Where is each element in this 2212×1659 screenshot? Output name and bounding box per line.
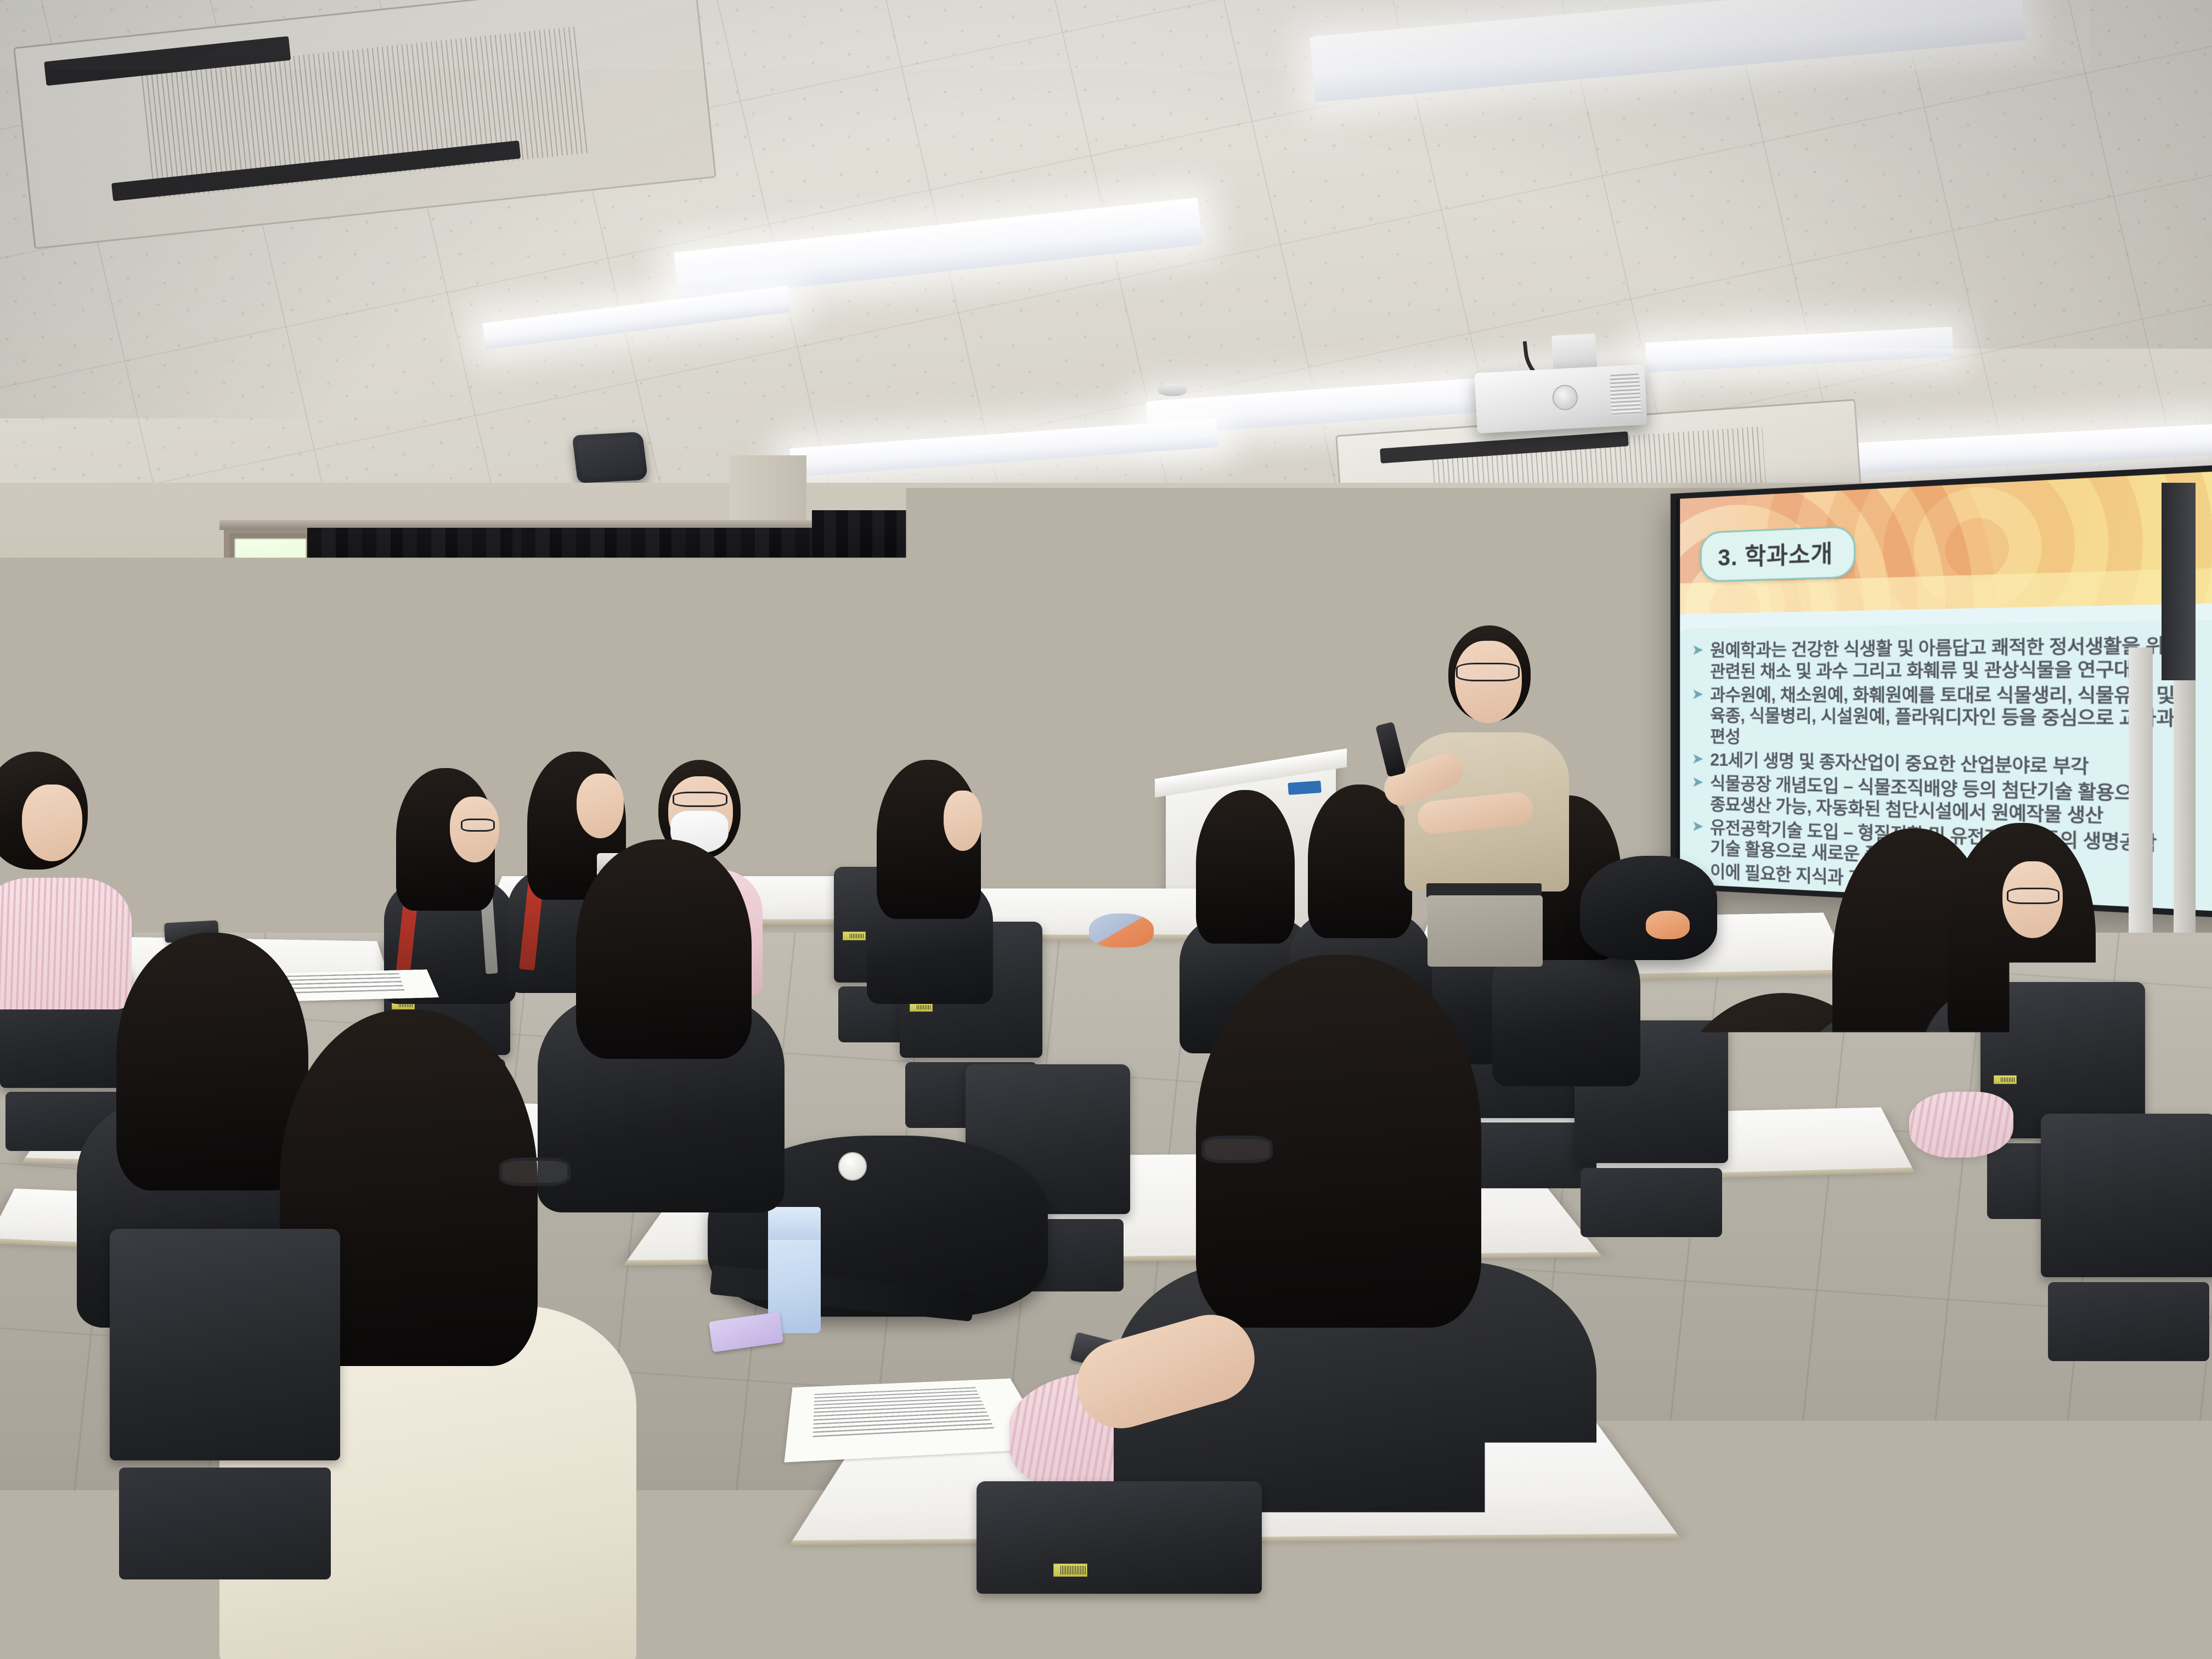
bullet-arrow-icon: ➤ bbox=[1691, 772, 1703, 792]
high-temperature-warning-label: 고온주의 bbox=[1097, 761, 1133, 785]
screen-mount-bracket bbox=[2162, 483, 2196, 680]
handwheel-hub bbox=[1117, 803, 1135, 820]
slide-title: 3. 학과소개 bbox=[1700, 526, 1855, 583]
student-glasses bbox=[499, 1158, 571, 1186]
chair-front-left[interactable] bbox=[110, 1229, 340, 1602]
handout-text-lines bbox=[812, 1387, 996, 1440]
tumbler-cap bbox=[768, 1207, 821, 1240]
student-hair bbox=[1196, 790, 1295, 944]
wall-speaker bbox=[572, 432, 648, 483]
chair-front-right[interactable] bbox=[1712, 1262, 1953, 1640]
chair-backrest bbox=[110, 1229, 340, 1460]
trash-bin[interactable] bbox=[1970, 1086, 2052, 1185]
chair-seat bbox=[119, 1468, 331, 1579]
student-face bbox=[577, 774, 624, 838]
autoclave-panel-text bbox=[1047, 692, 1125, 725]
chair-asset-tag bbox=[1053, 1564, 1087, 1577]
backpack-right-table[interactable] bbox=[1580, 856, 1717, 960]
student-glasses bbox=[2007, 888, 2059, 904]
presenter-face bbox=[1455, 641, 1522, 723]
chair-asset-tag bbox=[1729, 1409, 1761, 1421]
pin-badge-on-bag bbox=[838, 1152, 867, 1181]
classroom-photo: HS-5120G www.hanshin.co.kr 고온주의 3. 학과소 bbox=[0, 0, 2212, 1659]
bullet-arrow-icon: ➤ bbox=[1691, 816, 1703, 836]
screen-left-edge bbox=[1676, 499, 1680, 884]
chair-front-bottom[interactable] bbox=[977, 1481, 1262, 1659]
smoke-detector bbox=[1158, 384, 1187, 396]
presenter-glasses bbox=[1456, 663, 1520, 681]
autoclave-gauge-1 bbox=[1024, 690, 1042, 709]
chair-asset-tag bbox=[910, 1003, 933, 1012]
student-glasses bbox=[1201, 1136, 1273, 1163]
projector-vent bbox=[1610, 373, 1641, 415]
autoclave-handwheel[interactable] bbox=[1096, 781, 1156, 842]
autoclave-model-label: HS-5120G www.hanshin.co.kr bbox=[1047, 674, 1126, 689]
pen-cup bbox=[1145, 656, 1162, 670]
small-orange-plush-right[interactable] bbox=[1646, 911, 1690, 939]
chair-backrest bbox=[1712, 1262, 1953, 1497]
student-glasses bbox=[461, 819, 495, 832]
bullet-arrow-icon: ➤ bbox=[1691, 749, 1703, 768]
presenter bbox=[1393, 625, 1569, 933]
student-face bbox=[944, 791, 982, 851]
autoclave-door[interactable] bbox=[1042, 738, 1152, 848]
autoclave-safety-sticker bbox=[1065, 782, 1085, 794]
chair-asset-tag bbox=[843, 932, 866, 940]
student-back-left-1 bbox=[384, 768, 516, 998]
chair-backrest bbox=[977, 1481, 1262, 1594]
plush-toy[interactable] bbox=[1089, 913, 1154, 947]
student-glasses bbox=[673, 792, 727, 807]
autoclave-gauge-2 bbox=[1025, 713, 1043, 732]
student-back-center bbox=[867, 760, 993, 996]
bullet-arrow-icon: ➤ bbox=[1691, 640, 1703, 659]
chair-seat bbox=[2048, 1282, 2209, 1361]
student-face bbox=[22, 785, 82, 861]
bullet-text-2: 과수원예, 채소원예, 화훼원예를 토대로 식물생리, 식물유전 및 육종, 식… bbox=[1710, 684, 2194, 754]
window-glass bbox=[235, 539, 306, 934]
ceiling-projector bbox=[1474, 364, 1647, 433]
student-hair bbox=[1948, 823, 2096, 1059]
projector-lens bbox=[1552, 384, 1578, 410]
bullet-arrow-icon: ➤ bbox=[1691, 685, 1703, 703]
chair-seat bbox=[1722, 1504, 1944, 1618]
bullet-text-1: 원예학과는 건강한 식생활 및 아름답고 쾌적한 정서생활을 위해 관련된 채소… bbox=[1710, 634, 2183, 682]
autoclave-control-panel[interactable]: HS-5120G www.hanshin.co.kr bbox=[1041, 668, 1131, 730]
